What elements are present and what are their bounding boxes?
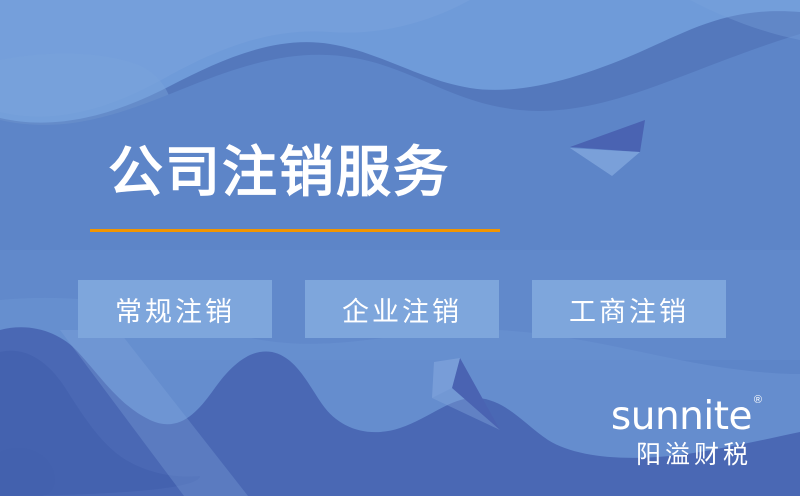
service-tag-commerce-label: 工商注销 (569, 290, 689, 329)
logo-chinese-name: 阳溢财税 (636, 441, 752, 469)
logo-wordmark-text: sunnite (611, 396, 752, 438)
service-tag-row: 常规注销 企业注销 工商注销 (78, 280, 728, 338)
banner-title: 公司注销服务 (108, 141, 450, 203)
service-tag-commerce[interactable]: 工商注销 (532, 280, 726, 338)
registered-trademark-icon: ® (754, 395, 762, 406)
logo-wordmark-wrapper: sunnite ® (590, 396, 762, 438)
company-logo: sunnite ® 阳溢财税 (590, 396, 762, 474)
service-tag-enterprise[interactable]: 企业注销 (305, 280, 499, 338)
promo-banner: 公司注销服务 常规注销 企业注销 工商注销 sunnite ® 阳溢财税 (0, 0, 800, 496)
service-tag-enterprise-label: 企业注销 (342, 290, 462, 329)
service-tag-regular-label: 常规注销 (115, 290, 235, 329)
service-tag-regular[interactable]: 常规注销 (78, 280, 272, 338)
banner-content: 公司注销服务 常规注销 企业注销 工商注销 sunnite ® 阳溢财税 (0, 0, 800, 496)
title-divider (90, 229, 500, 232)
